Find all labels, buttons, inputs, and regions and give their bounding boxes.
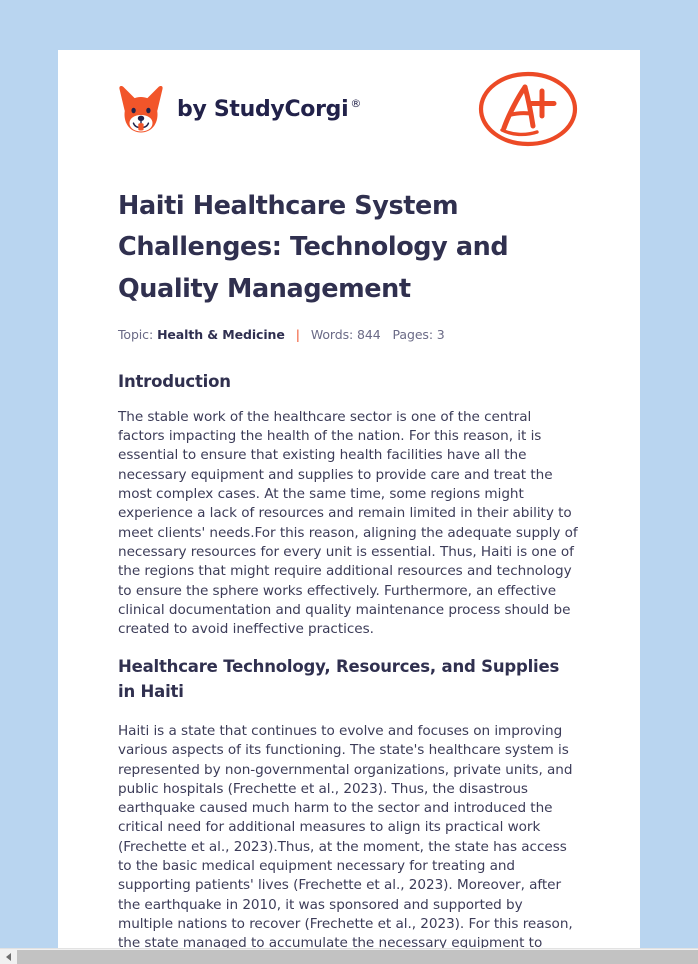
- section-heading-healthcare-technology: Healthcare Technology, Resources, and Su…: [118, 655, 580, 705]
- a-plus-grade-badge-icon: [476, 68, 580, 150]
- horizontal-scrollbar[interactable]: [0, 948, 698, 964]
- topic-value[interactable]: Health & Medicine: [157, 327, 285, 342]
- brand-logo-group[interactable]: by StudyCorgi®: [118, 84, 361, 134]
- chevron-left-icon[interactable]: [0, 949, 16, 964]
- page-count: Pages: 3: [393, 327, 445, 342]
- chevron-left-glyph: [6, 953, 11, 961]
- brand-wordmark-text: by StudyCorgi: [177, 97, 348, 122]
- section-heading-introduction: Introduction: [118, 372, 580, 391]
- document-page: by StudyCorgi® Haiti Healthcare System C…: [58, 50, 640, 948]
- brand-wordmark: by StudyCorgi®: [177, 97, 361, 122]
- document-content: by StudyCorgi® Haiti Healthcare System C…: [58, 50, 640, 948]
- section-paragraph: Haiti is a state that continues to evolv…: [118, 722, 580, 948]
- page-title: Haiti Healthcare System Challenges: Tech…: [118, 186, 580, 310]
- corgi-face-icon: [118, 84, 164, 134]
- meta-separator: |: [296, 327, 300, 342]
- word-count: Words: 844: [311, 327, 381, 342]
- document-meta: Topic: Health & Medicine | Words: 844 Pa…: [118, 327, 580, 342]
- scrollbar-thumb[interactable]: [17, 950, 698, 964]
- topic-label: Topic:: [118, 327, 153, 342]
- brand-header: by StudyCorgi®: [118, 50, 580, 150]
- registered-trademark-icon: ®: [350, 97, 361, 110]
- section-paragraph: The stable work of the healthcare sector…: [118, 408, 580, 640]
